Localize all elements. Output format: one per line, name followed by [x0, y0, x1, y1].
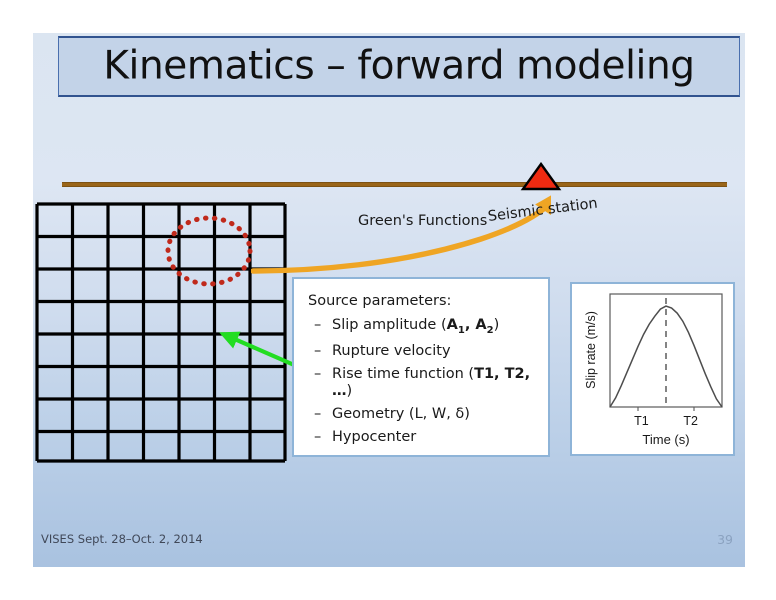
- param-hypocenter: Hypocenter: [332, 429, 538, 446]
- list-item: – Rupture velocity: [308, 343, 538, 360]
- footer-conference-text: VISES Sept. 28–Oct. 2, 2014: [41, 532, 203, 546]
- param-rupture-velocity: Rupture velocity: [332, 343, 538, 360]
- list-item: – Geometry (L, W, δ): [308, 406, 538, 423]
- param-rise-time-function: Rise time function (T1, T2, …): [332, 366, 538, 399]
- greens-functions-label: Green's Functions: [358, 213, 487, 229]
- list-bullet-dash: –: [308, 366, 332, 399]
- slide-canvas: Kinematics – forward modeling: [33, 33, 745, 567]
- source-parameters-box: Source parameters: – Slip amplitude (A1,…: [292, 277, 550, 457]
- param-slip-amplitude: Slip amplitude (A1, A2): [332, 317, 538, 336]
- param-geometry: Geometry (L, W, δ): [332, 406, 538, 423]
- fault-plane-grid: [35, 202, 287, 463]
- free-surface-line: [62, 182, 727, 187]
- svg-text:Time (s): Time (s): [642, 432, 689, 447]
- svg-text:T1: T1: [634, 414, 649, 428]
- slide-footer: VISES Sept. 28–Oct. 2, 2014 39: [33, 521, 745, 567]
- list-bullet-dash: –: [308, 429, 332, 446]
- list-bullet-dash: –: [308, 406, 332, 423]
- list-item: – Slip amplitude (A1, A2): [308, 317, 538, 336]
- seismic-station-label: Seismic station: [487, 196, 598, 225]
- list-item: – Hypocenter: [308, 429, 538, 446]
- svg-text:T2: T2: [683, 414, 698, 428]
- list-item: – Rise time function (T1, T2, …): [308, 366, 538, 399]
- greens-function-ray-path: [251, 183, 551, 283]
- source-parameters-title: Source parameters:: [308, 293, 538, 309]
- slide-title-box: Kinematics – forward modeling: [58, 36, 740, 97]
- page-title: Kinematics – forward modeling: [59, 43, 739, 88]
- page-number: 39: [717, 532, 733, 547]
- list-bullet-dash: –: [308, 317, 332, 336]
- list-bullet-dash: –: [308, 343, 332, 360]
- slip-rate-function-panel: Slip rate (m/s) T1 T2 Time (s): [570, 282, 735, 456]
- svg-text:Slip rate (m/s): Slip rate (m/s): [584, 311, 598, 389]
